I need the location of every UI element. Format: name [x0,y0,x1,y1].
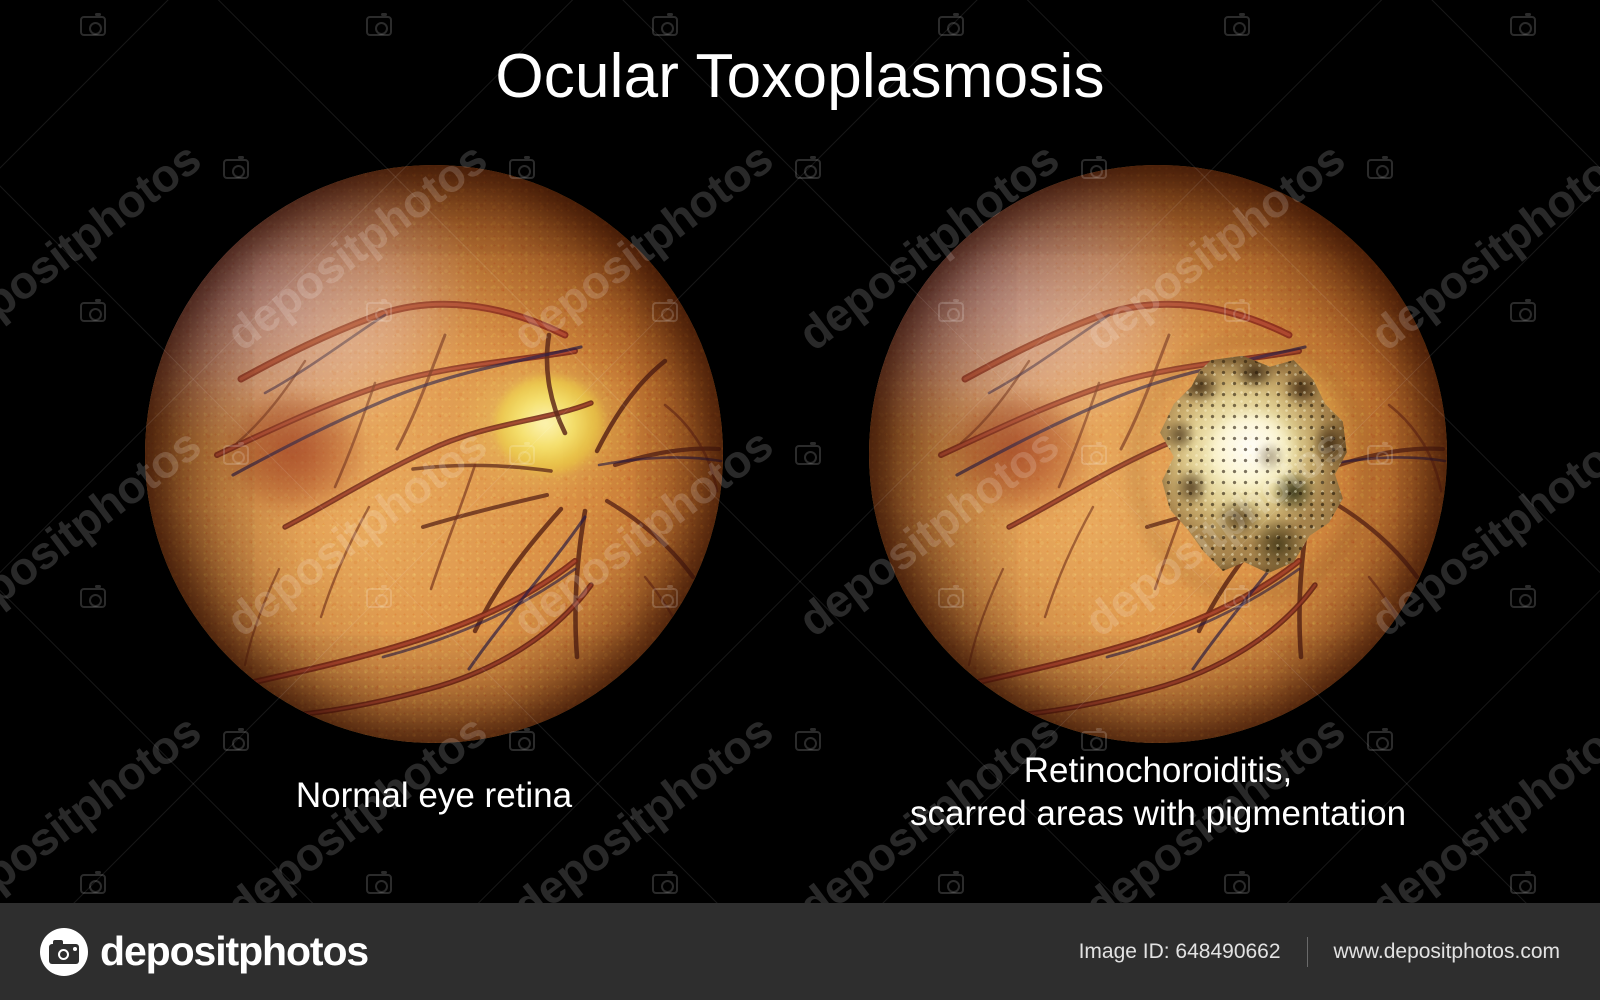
caption-normal-retina: Normal eye retina [145,775,723,818]
fundus-lesion [869,165,1447,743]
website-url[interactable]: www.depositphotos.com [1334,940,1560,964]
camera-icon [1510,874,1536,894]
camera-icon [366,874,392,894]
camera-icon [938,16,964,36]
footer-divider [1307,937,1308,967]
camera-icon [652,16,678,36]
camera-lens [58,949,69,960]
depositphotos-logo[interactable]: depositphotos [40,928,368,976]
camera-icon [40,928,88,976]
footer-bar: depositphotos Image ID: 648490662 www.de… [0,903,1600,1000]
retina-figure-normal [145,165,723,743]
camera-icon [652,874,678,894]
camera-icon [80,16,106,36]
brand-name: depositphotos [100,928,368,975]
footer-meta: Image ID: 648490662 www.depositphotos.co… [1079,937,1560,967]
retinal-vessels-normal [145,165,723,743]
camera-icon [795,159,821,179]
camera-icon [366,16,392,36]
retina-figure-lesion [869,165,1447,743]
camera-icon [795,445,821,465]
camera-icon [80,302,106,322]
caption-normal-line1: Normal eye retina [145,775,723,818]
camera-icon [1510,588,1536,608]
camera-icon [1224,874,1250,894]
camera-icon [1510,16,1536,36]
page-title: Ocular Toxoplasmosis [0,44,1600,109]
camera-flash [73,947,77,951]
camera-icon [795,731,821,751]
caption-lesion-line2: scarred areas with pigmentation [829,793,1487,836]
camera-icon [80,588,106,608]
chorioretinal-scar [1152,356,1349,576]
camera-icon [1224,16,1250,36]
caption-lesion-retina: Retinochoroiditis, scarred areas with pi… [829,750,1487,835]
image-id: Image ID: 648490662 [1079,940,1281,964]
camera-icon [80,874,106,894]
illustration-canvas: Ocular Toxoplasmosis [0,0,1600,1000]
camera-icon [938,874,964,894]
camera-icon [1510,302,1536,322]
fundus-normal [145,165,723,743]
caption-lesion-line1: Retinochoroiditis, [829,750,1487,793]
